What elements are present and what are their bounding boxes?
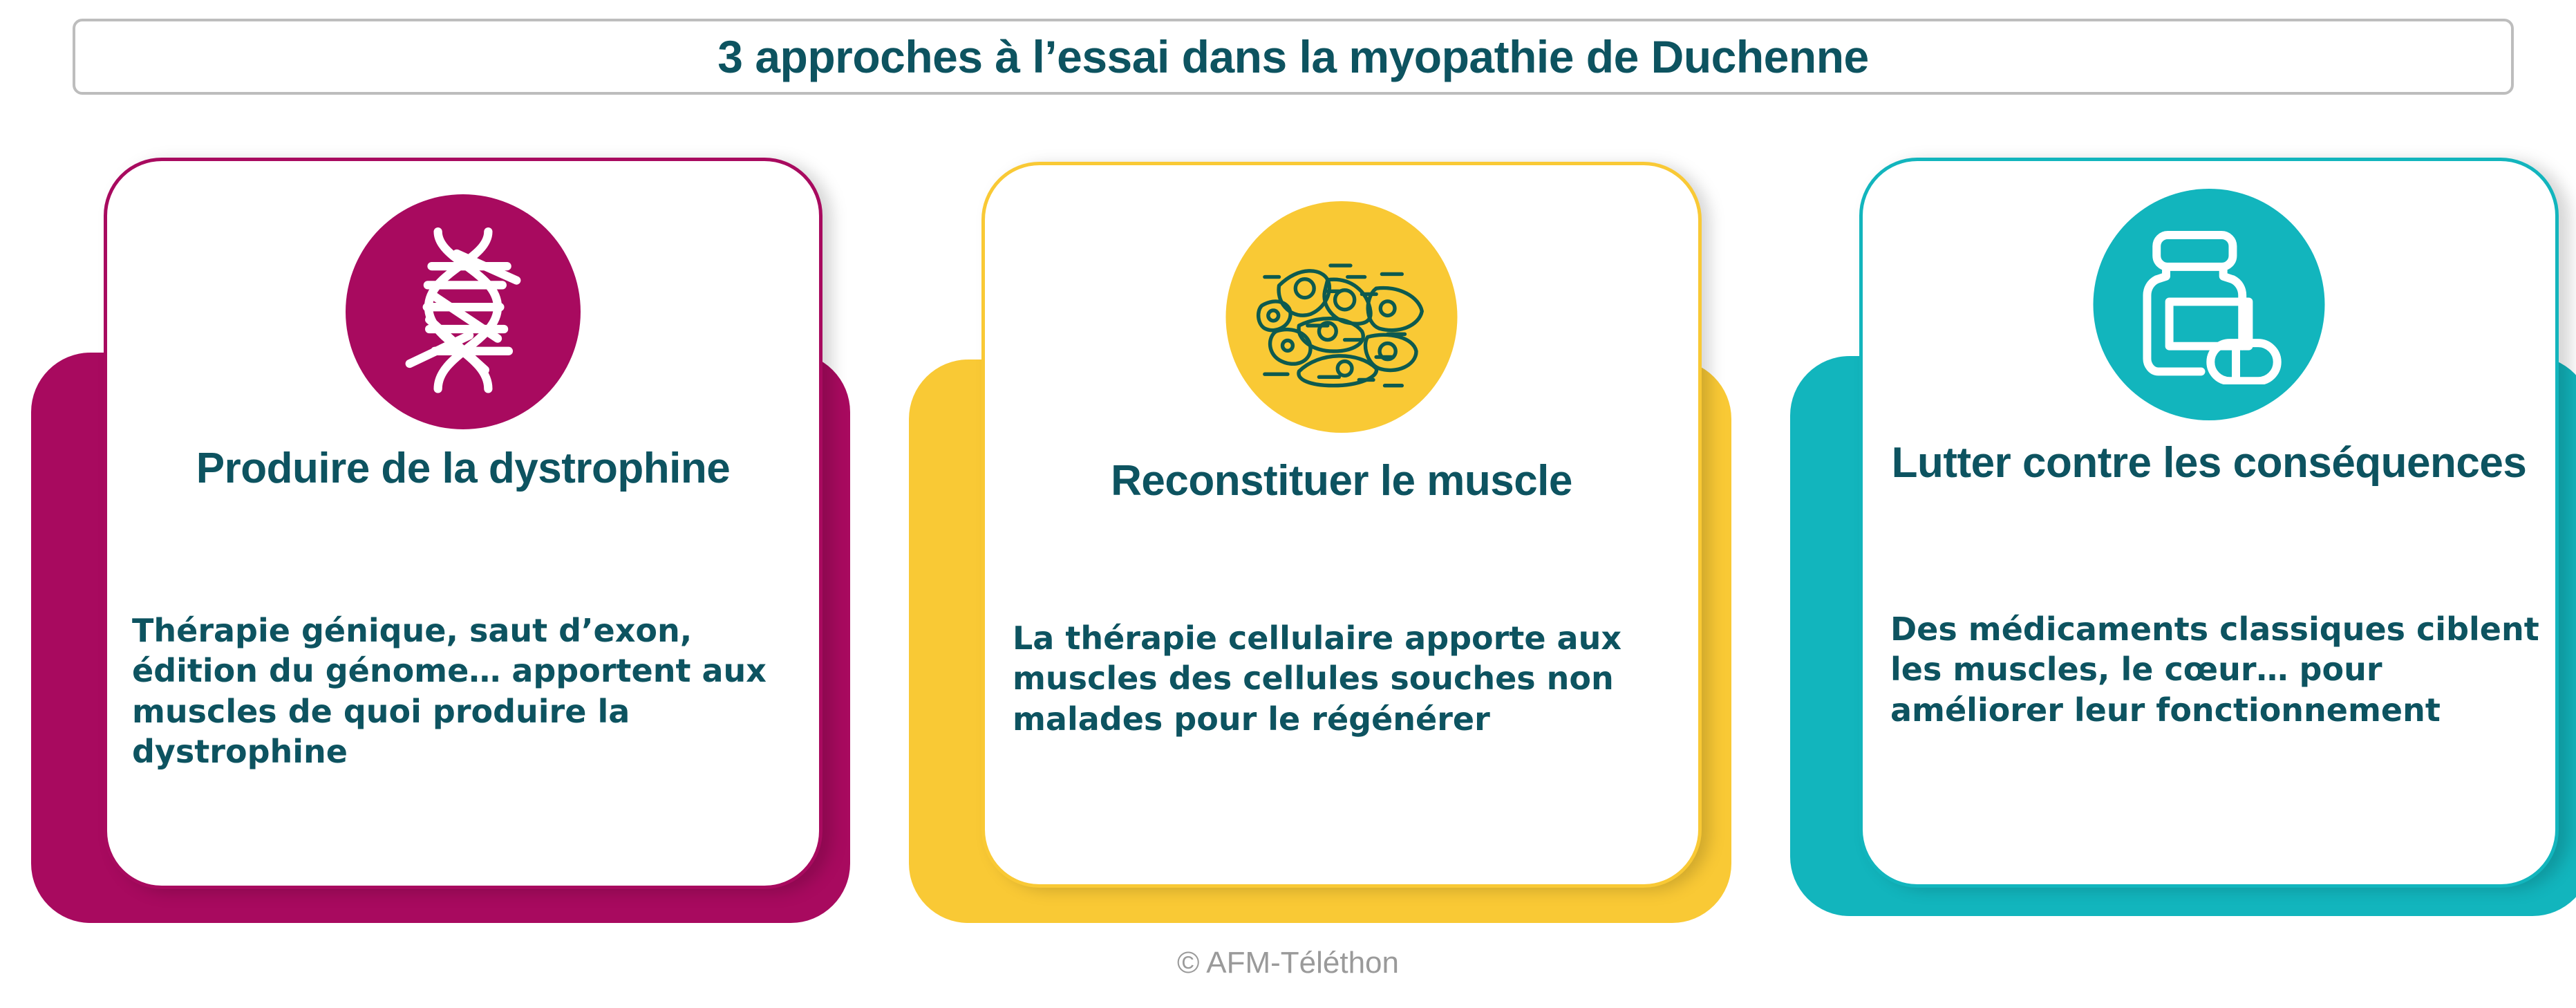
card-heading: Lutter contre les conséquences — [1863, 439, 2555, 487]
card-face: Reconstituer le muscle La thérapie cellu… — [981, 162, 1702, 888]
card-body-text: La thérapie cellulaire apporte aux muscl… — [1013, 618, 1690, 739]
approach-card-lutter-consequences: Lutter contre les conséquences Des médic… — [1769, 0, 2576, 961]
approach-card-reconstituer-muscle: Reconstituer le muscle La thérapie cellu… — [892, 0, 1721, 961]
muscle-cells-icon — [1226, 201, 1458, 433]
card-face: Lutter contre les conséquences Des médic… — [1859, 158, 2559, 888]
pill-bottle-icon — [2094, 189, 2325, 420]
card-heading: Produire de la dystrophine — [107, 445, 819, 493]
card-face: Produire de la dystrophine Thérapie géni… — [104, 158, 822, 889]
card-heading: Reconstituer le muscle — [985, 457, 1698, 505]
dna-helix-icon — [346, 194, 581, 429]
approach-card-produire-dystrophine: Produire de la dystrophine Thérapie géni… — [14, 0, 843, 961]
card-body-text: Des médicaments classiques ciblent les m… — [1890, 609, 2547, 730]
copyright-footer: © AFM-Téléthon — [0, 946, 2576, 980]
card-body-text: Thérapie génique, saut d’exon, édition d… — [132, 610, 816, 772]
